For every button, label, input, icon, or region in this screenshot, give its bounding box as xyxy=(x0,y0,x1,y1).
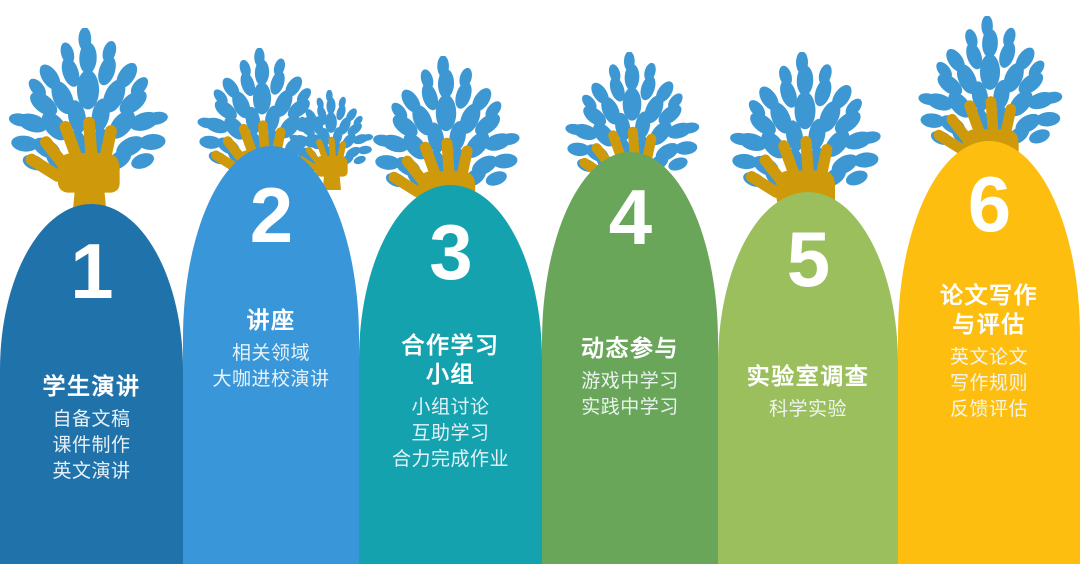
step-pillar-3[interactable]: 3 合作学习 小组 小组讨论 互助学习 合力完成作业 xyxy=(359,0,542,564)
step-text-1: 学生演讲 自备文稿 课件制作 英文演讲 xyxy=(0,372,183,485)
step-pillar-3-body: 3 合作学习 小组 小组讨论 互助学习 合力完成作业 xyxy=(359,185,542,564)
step-pillar-6[interactable]: 6 论文写作 与评估 英文论文 写作规则 反馈评估 xyxy=(898,0,1080,564)
step-number-3: 3 xyxy=(359,213,542,291)
step-text-3: 合作学习 小组 小组讨论 互助学习 合力完成作业 xyxy=(359,331,542,473)
step-text-5: 实验室调查 科学实验 xyxy=(718,362,898,423)
step-pillar-4-body: 4 动态参与 游戏中学习 实践中学习 xyxy=(542,152,718,564)
step-number-6: 6 xyxy=(898,165,1080,243)
step-title-6: 论文写作 与评估 xyxy=(902,281,1076,339)
step-title-2: 讲座 xyxy=(187,306,355,335)
step-pillar-2-body: 2 讲座 相关领域 大咖进校演讲 xyxy=(183,146,359,564)
step-subtitle-1: 自备文稿 课件制作 英文演讲 xyxy=(4,407,179,485)
step-pillar-6-body: 6 论文写作 与评估 英文论文 写作规则 反馈评估 xyxy=(898,141,1080,564)
step-subtitle-2: 相关领域 大咖进校演讲 xyxy=(187,341,355,393)
step-pillar-1[interactable]: 1 学生演讲 自备文稿 课件制作 英文演讲 xyxy=(0,8,183,564)
step-pillar-1-body: 1 学生演讲 自备文稿 课件制作 英文演讲 xyxy=(0,204,183,564)
step-pillar-5-body: 5 实验室调查 科学实验 xyxy=(718,192,898,564)
step-subtitle-6: 英文论文 写作规则 反馈评估 xyxy=(902,345,1076,423)
step-text-2: 讲座 相关领域 大咖进校演讲 xyxy=(183,306,359,393)
step-pillar-2[interactable]: 2 讲座 相关领域 大咖进校演讲 xyxy=(183,0,359,564)
step-pillar-5[interactable]: 5 实验室调查 科学实验 xyxy=(718,0,898,564)
step-title-4: 动态参与 xyxy=(546,334,714,363)
step-text-4: 动态参与 游戏中学习 实践中学习 xyxy=(542,334,718,421)
step-pillar-4[interactable]: 4 动态参与 游戏中学习 实践中学习 xyxy=(542,0,718,564)
step-subtitle-5: 科学实验 xyxy=(722,397,894,423)
step-subtitle-3: 小组讨论 互助学习 合力完成作业 xyxy=(363,395,538,473)
step-title-1: 学生演讲 xyxy=(4,372,179,401)
step-title-3: 合作学习 小组 xyxy=(363,331,538,389)
step-text-6: 论文写作 与评估 英文论文 写作规则 反馈评估 xyxy=(898,281,1080,423)
step-subtitle-4: 游戏中学习 实践中学习 xyxy=(546,369,714,421)
step-title-5: 实验室调查 xyxy=(722,362,894,391)
infographic-canvas: 1 学生演讲 自备文稿 课件制作 英文演讲 2 讲座 相关领域 大咖进校演讲 3… xyxy=(0,0,1080,564)
step-number-4: 4 xyxy=(542,178,718,256)
step-number-5: 5 xyxy=(718,220,898,298)
step-number-1: 1 xyxy=(0,232,183,310)
step-number-2: 2 xyxy=(183,176,359,254)
